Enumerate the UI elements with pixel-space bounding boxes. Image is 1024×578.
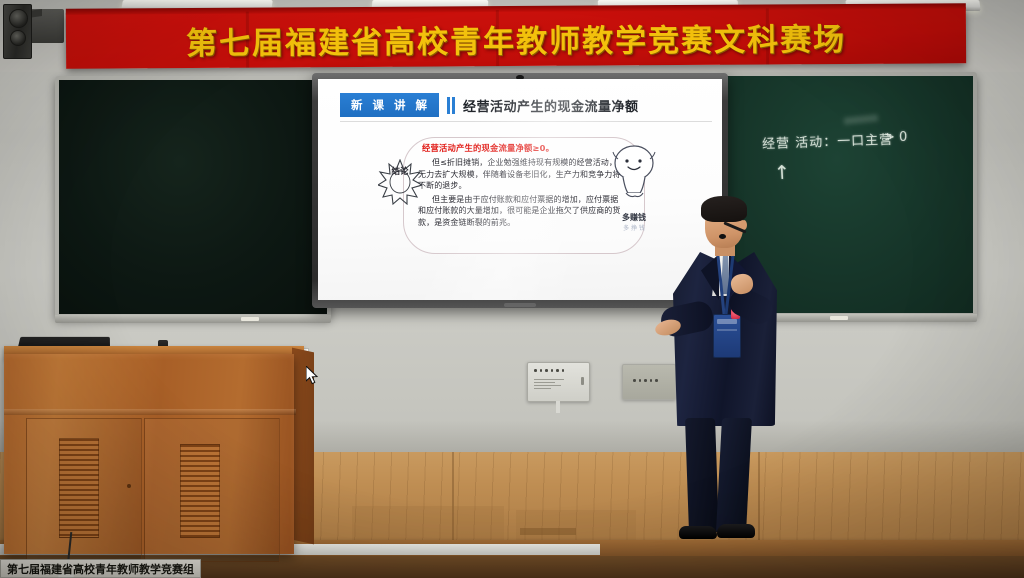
blackboard-left [55,76,331,318]
mascot-character-icon [606,141,662,211]
presenter-leg-right [716,418,752,532]
slide-divider-bars-icon [447,97,455,114]
presenter-shoe-left [679,526,717,539]
chalk-handwriting-line: 经营 活动：一口主营 [762,129,894,153]
chalk-inequality: > 0 [884,130,907,145]
speaker-cone-top [9,9,28,28]
badge-strip [717,319,737,324]
slide-paragraph-1: 但≤折旧摊销，企业勉强维持现有规模的经营活动，无力去扩大规模，伴随着设备老旧化，… [418,157,623,192]
slide-title-underline [340,121,712,122]
panel-indicator-dots [534,369,564,372]
panel-cable [556,401,560,413]
chalk-tray-left [55,315,331,323]
panel-port-slot [581,377,584,385]
watermark-caption: 第七届福建省高校青年教师教学竞赛组 [0,559,201,578]
lectern-body [4,354,294,554]
classroom-scene: 第七届福建省高校青年教师教学竞赛文科赛场 经营 活动：一口主营 > 0 ↑ 新 … [0,0,1024,578]
slide-highlight-text: 经营活动产生的现金流量净额≥0。 [422,142,623,154]
lectern-vent-right [180,444,220,538]
headset-mic-tip [719,234,726,239]
chalk-smudge [844,114,879,125]
panel2-indicator-dots [633,379,658,382]
lectern-vent-left [59,438,99,538]
screen-brand-badge [504,303,536,307]
speaker-cone-bottom [10,30,26,46]
chalk-up-arrow-icon: ↑ [773,162,790,185]
conclusion-label: 结论 [390,168,410,178]
stage-patch-1 [352,506,504,544]
slide-section-badge: 新 课 讲 解 [340,93,439,117]
panel-label-lines [534,379,572,391]
slide-paragraph-2: 但主要是由于应付账款和应付票据的增加，应付票据和应付账款的大量增加，很可能是企业… [418,194,623,229]
starburst-icon [378,159,422,205]
presenter-shoe-right [717,524,755,538]
banner-text: 第七届福建省高校青年教师教学竞赛文科赛场 [66,13,966,63]
mouse-cursor-icon [306,366,320,386]
competition-banner: 第七届福建省高校青年教师教学竞赛文科赛场 [66,7,966,68]
presenter [655,196,785,544]
chalk-stub-left [241,317,259,321]
mascot-illustration: 多赚钱 多 挣 钱 [606,141,662,225]
mascot-subcaption: 多 挣 钱 [606,223,662,232]
mascot-caption: 多赚钱 [606,212,662,223]
presenter-leg-left [685,418,719,532]
watermark-caption-text: 第七届福建省高校青年教师教学竞赛组 [7,561,194,577]
badge-text-line [717,329,737,331]
slide-title: 经营活动产生的现金流量净额 [463,96,639,115]
lectern[interactable] [4,336,312,554]
presenter-id-badge [713,314,741,358]
lectern-lock-knob[interactable] [127,484,131,488]
slide-header: 新 课 讲 解 经营活动产生的现金流量净额 [340,93,639,117]
slide-body: 经营活动产生的现金流量净额≥0。 但≤折旧摊销，企业勉强维持现有规模的经营活动，… [418,142,623,230]
wall-control-panel-1[interactable] [527,362,590,402]
lectern-rail [4,409,296,415]
stage-patch-2 [516,510,636,544]
chalk-stub-right [830,316,848,320]
presenter-hair [701,196,747,222]
stage-hatch [520,528,576,535]
wall-speaker-icon [3,4,32,59]
conclusion-starburst: 结论 [378,159,422,205]
